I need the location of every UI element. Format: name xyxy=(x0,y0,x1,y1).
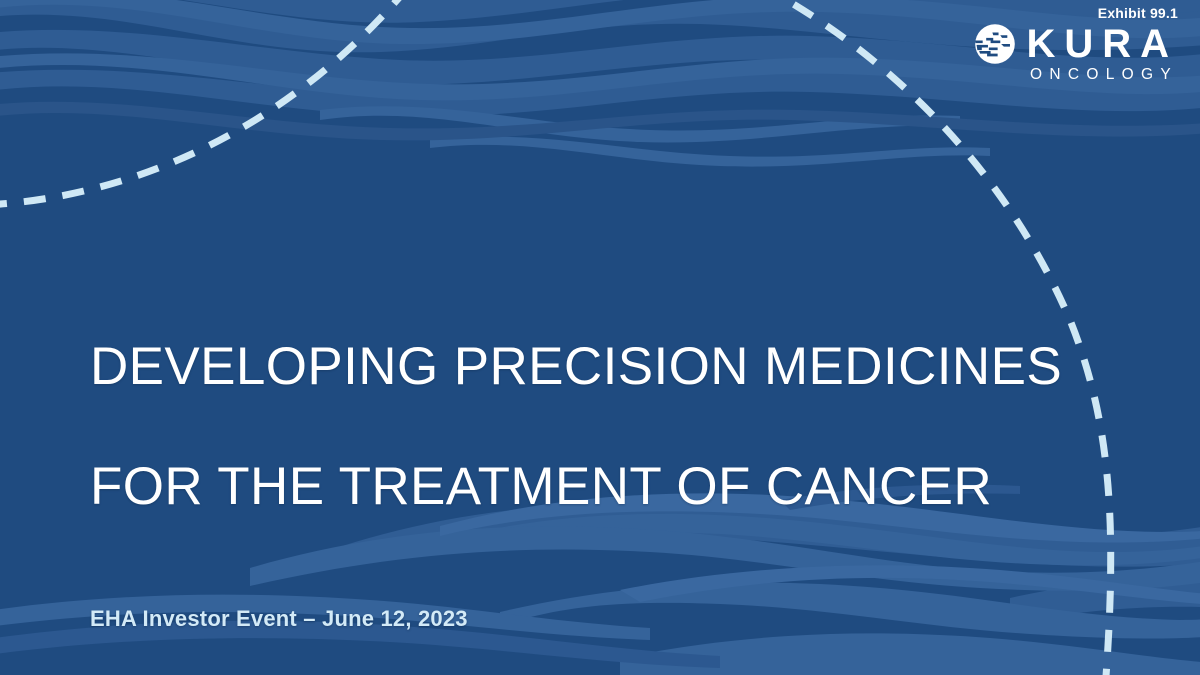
kura-globe-icon xyxy=(973,22,1017,66)
slide-title: DEVELOPING PRECISION MEDICINES FOR THE T… xyxy=(90,277,1062,576)
logo-wordmark: KURA xyxy=(1024,25,1178,63)
kura-oncology-logo: KURA ONCOLOGY xyxy=(973,22,1178,83)
slide-title-line-2: FOR THE TREATMENT OF CANCER xyxy=(90,457,1062,517)
logo-top-row: KURA xyxy=(973,22,1178,66)
exhibit-label: Exhibit 99.1 xyxy=(1098,5,1178,21)
logo-subword: ONCOLOGY xyxy=(1030,67,1178,83)
event-subtitle: EHA Investor Event – June 12, 2023 xyxy=(90,606,468,632)
title-slide: Exhibit 99.1 KURA ONCOLOGY DEVELOPING PR… xyxy=(0,0,1200,675)
slide-title-line-1: DEVELOPING PRECISION MEDICINES xyxy=(90,337,1062,397)
